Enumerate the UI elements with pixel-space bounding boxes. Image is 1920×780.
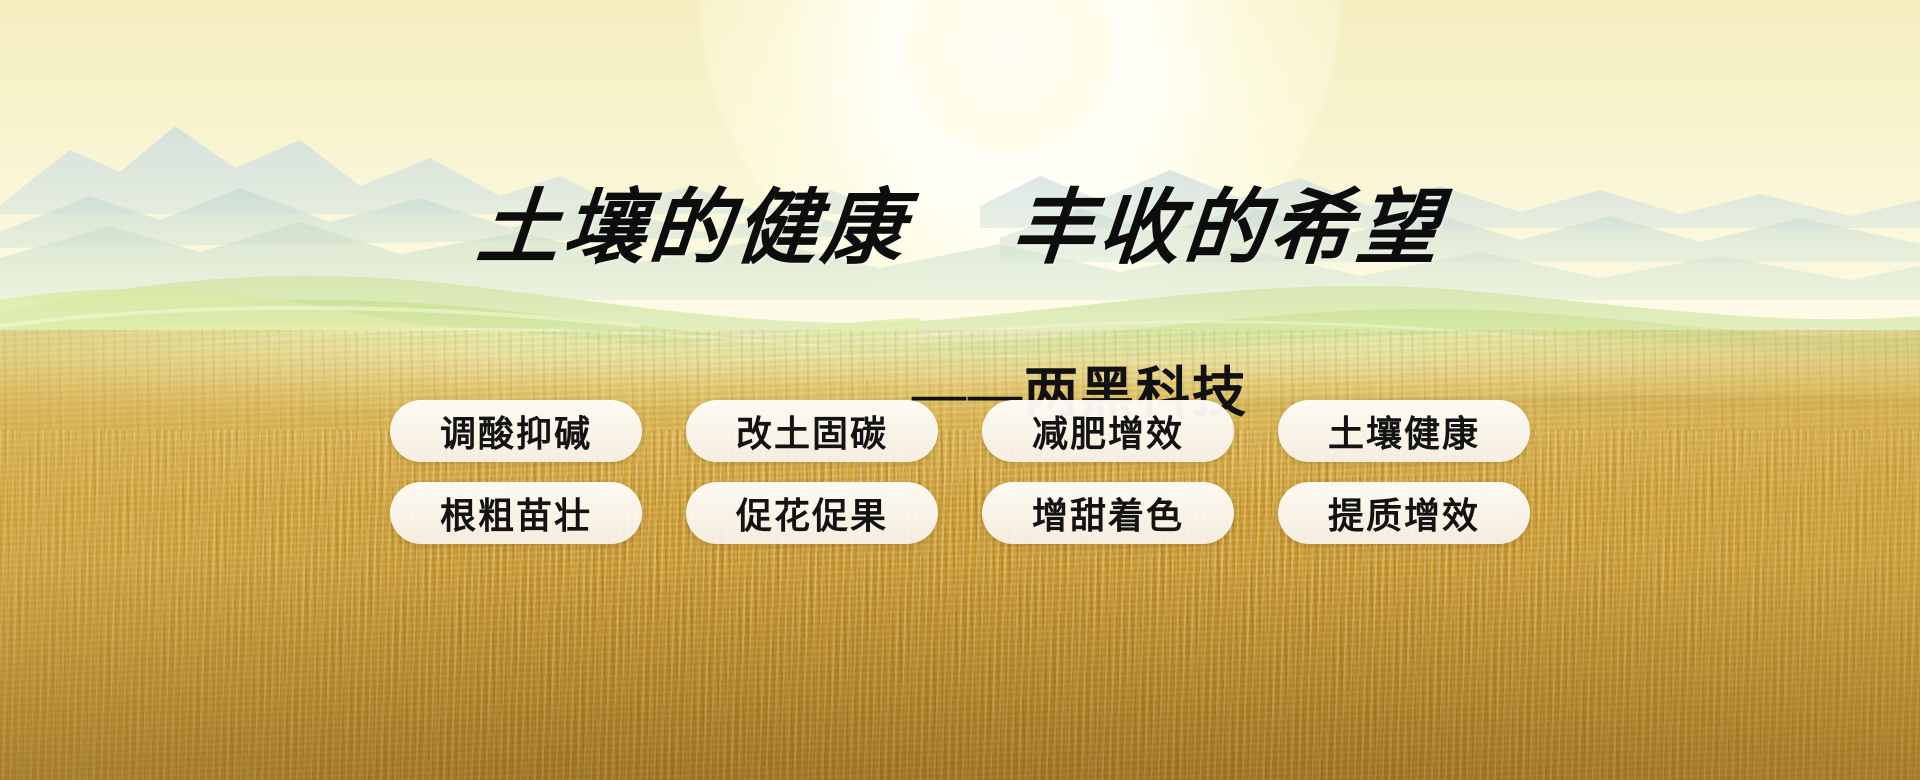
hero-banner: 土壤的健康 丰收的希望 ——两黑科技 调酸抑碱 改土固碳 减肥增效 土壤健康 根… (0, 0, 1920, 780)
feature-badge[interactable]: 改土固碳 (686, 400, 938, 462)
feature-badge[interactable]: 促花促果 (686, 482, 938, 544)
feature-badge[interactable]: 根粗苗壮 (390, 482, 642, 544)
feature-badge-row-2: 根粗苗壮 促花促果 增甜着色 提质增效 (390, 482, 1530, 544)
feature-badge-row-1: 调酸抑碱 改土固碳 减肥增效 土壤健康 (390, 400, 1530, 462)
headline-part-2: 丰收的希望 (1009, 183, 1447, 274)
feature-badge[interactable]: 调酸抑碱 (390, 400, 642, 462)
headline-part-1: 土壤的健康 (474, 183, 912, 274)
feature-badge[interactable]: 减肥增效 (982, 400, 1234, 462)
field-bottom-vignette (0, 560, 1920, 780)
banner-headline: 土壤的健康 丰收的希望 (0, 188, 1920, 270)
feature-badge[interactable]: 土壤健康 (1278, 400, 1530, 462)
feature-badge-group: 调酸抑碱 改土固碳 减肥增效 土壤健康 根粗苗壮 促花促果 增甜着色 提质增效 (0, 400, 1920, 544)
feature-badge[interactable]: 提质增效 (1278, 482, 1530, 544)
feature-badge[interactable]: 增甜着色 (982, 482, 1234, 544)
